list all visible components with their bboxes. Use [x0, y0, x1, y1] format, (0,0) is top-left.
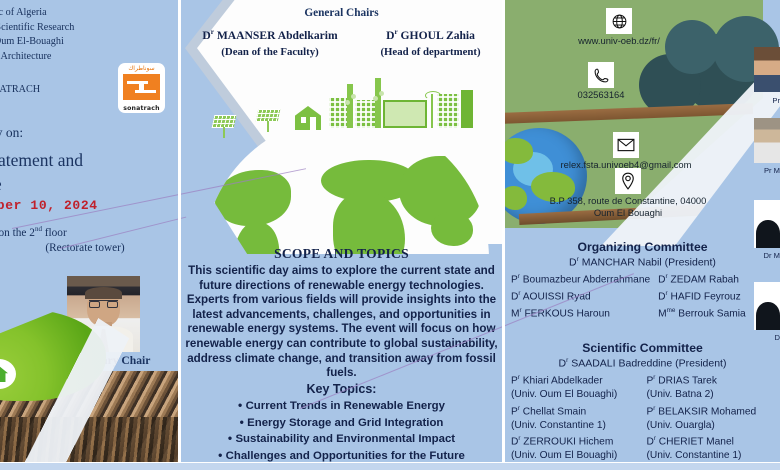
edge-member-label: Dr M — [764, 251, 780, 260]
organizing-committee-members: Pr Boumazbeur Abderrahmane Dr AOUISSI Ry… — [511, 270, 774, 321]
location-pin-icon — [615, 168, 641, 194]
scientific-members-left: Pr Khiari Abdelkader (Univ. Oum El Bouag… — [511, 371, 639, 463]
eco-city-skyline — [219, 94, 471, 150]
contact-address: B.P 358, route de Constantine, 04000 Oum… — [513, 168, 743, 219]
scope-paragraph: This scientific day aims to explore the … — [185, 264, 498, 381]
general-chair-1-name: Dr MAANSER Abdelkarim — [202, 24, 337, 44]
bottom-strip — [0, 463, 780, 470]
event-kicker: ...ntific Day on: — [0, 125, 178, 141]
general-chair-2-name: Dr GHOUL Zahia — [380, 24, 480, 44]
sonatrach-wordmark: sonatrach — [118, 105, 165, 112]
member-affiliation: (Univ. Oum El Bouaghi) — [511, 388, 639, 402]
panel-divider — [178, 0, 181, 470]
panel-divider — [502, 0, 505, 470]
scientific-members-right: Pr DRIAS Tarek (Univ. Batna 2) Pr BELAKS… — [639, 371, 775, 463]
key-topics-heading: Key Topics: — [181, 382, 502, 396]
member-row: Pr Chellat Smain — [511, 402, 639, 419]
member-row: Mr FERKOUS Haroun — [511, 304, 650, 321]
conference-poster: ...ratic Republic of Algeria ...ucation … — [0, 0, 780, 470]
sonatrach-mark — [123, 74, 160, 100]
solar-field-illustration — [0, 303, 178, 463]
globe-icon — [606, 8, 632, 34]
edge-member-photo — [754, 200, 780, 248]
member-row: Dr ZERROUKI Hichem — [511, 432, 639, 449]
member-affiliation: (Univ. Ouargla) — [647, 419, 775, 433]
member-row: Dr CHERIET Manel — [647, 432, 775, 449]
event-title: ...rgy: Statement and ...pective — [0, 148, 178, 196]
key-topic-item: Energy Storage and Grid Integration — [181, 415, 502, 432]
right-panel: www.univ-oeb.dz/fr/ 032563164 relex.fsta… — [505, 0, 780, 470]
member-row: Pr BELAKSIR Mohamed — [647, 402, 775, 419]
key-topic-item: Sustainability and Environmental Impact — [181, 431, 502, 448]
address-line-1: B.P 358, route de Constantine, 04000 — [550, 195, 707, 206]
member-affiliation: (Univ. Oum El Bouaghi) — [511, 449, 639, 463]
edge-member-photo — [754, 282, 780, 330]
general-chair-1-role: (Dean of the Faculty) — [202, 44, 337, 61]
member-affiliation: (Univ. Constantine 1) — [647, 449, 775, 463]
member-row: Pr Boumazbeur Abderrahmane — [511, 270, 650, 287]
edge-member-photo — [754, 118, 780, 163]
general-chair-2-role: (Head of department) — [380, 44, 480, 61]
organizing-committee-president: Dr MANCHAR Nabil (President) — [505, 256, 780, 269]
scientific-committee-heading: Scientific Committee — [505, 341, 780, 355]
address-line-2: Oum El Bouaghi — [594, 207, 662, 218]
member-affiliation: (Univ. Batna 2) — [647, 388, 775, 402]
contact-phone[interactable]: 032563164 — [541, 62, 661, 100]
scientific-committee-president: Dr SAADALI Badreddine (President) — [505, 357, 780, 370]
event-venue: ...erence hall on the 2nd floor (Rectora… — [0, 222, 178, 256]
institution-header: ...ratic Republic of Algeria ...ucation … — [0, 6, 178, 64]
left-panel: ...ratic Republic of Algeria ...ucation … — [0, 0, 178, 470]
general-chairs-heading: General Chairs — [181, 7, 502, 19]
contact-email[interactable]: relex.fsta.univoeb4@gmail.com — [521, 132, 731, 170]
phone-icon — [588, 62, 614, 88]
key-topics-list: Current Trends in Renewable Energy Energ… — [181, 398, 502, 464]
envelope-icon — [613, 132, 639, 158]
phone-number: 032563164 — [578, 89, 625, 100]
member-row: Pr Khiari Abdelkader — [511, 371, 639, 388]
edge-member-label: D — [775, 333, 780, 342]
scientific-committee-members: Pr Khiari Abdelkader (Univ. Oum El Bouag… — [511, 371, 774, 463]
general-chair-2: Dr GHOUL Zahia (Head of department) — [380, 24, 480, 61]
organizing-committee-heading: Organizing Committee — [505, 240, 780, 254]
house-icon — [295, 106, 321, 130]
general-chairs-row: Dr MAANSER Abdelkarim (Dean of the Facul… — [181, 24, 502, 61]
contact-website[interactable]: www.univ-oeb.dz/fr/ — [539, 8, 699, 46]
center-panel: General Chairs Dr MAANSER Abdelkarim (De… — [181, 0, 502, 470]
institution-line-2: ...ucation and Scientific Research — [0, 21, 178, 36]
event-title-line-2: ...pective — [0, 172, 178, 196]
website-url: www.univ-oeb.dz/fr/ — [578, 35, 660, 46]
sonatrach-logo: سوناطراك sonatrach — [118, 63, 165, 113]
event-title-line-1: ...rgy: Statement and — [0, 148, 178, 172]
edge-member-photo — [754, 47, 780, 92]
venue-line-2: (Rectorate tower) — [0, 241, 178, 256]
edge-member-label: Pr — [772, 96, 780, 105]
edge-member-label: Pr M — [764, 166, 780, 175]
institution-line-3: ...Ben M'hidi Oum El-Bouaghi — [0, 35, 178, 50]
institution-line-1: ...ratic Republic of Algeria — [0, 6, 178, 21]
member-row: Pr DRIAS Tarek — [647, 371, 775, 388]
green-globe-illustration — [195, 74, 495, 254]
sonatrach-arabic-text: سوناطراك — [118, 65, 165, 72]
key-topic-item: Current Trends in Renewable Energy — [181, 398, 502, 415]
member-affiliation: (Univ. Constantine 1) — [511, 419, 639, 433]
general-chair-1: Dr MAANSER Abdelkarim (Dean of the Facul… — [202, 24, 337, 61]
billboard-icon — [383, 100, 427, 128]
scope-heading: SCOPE AND TOPICS — [181, 246, 502, 262]
